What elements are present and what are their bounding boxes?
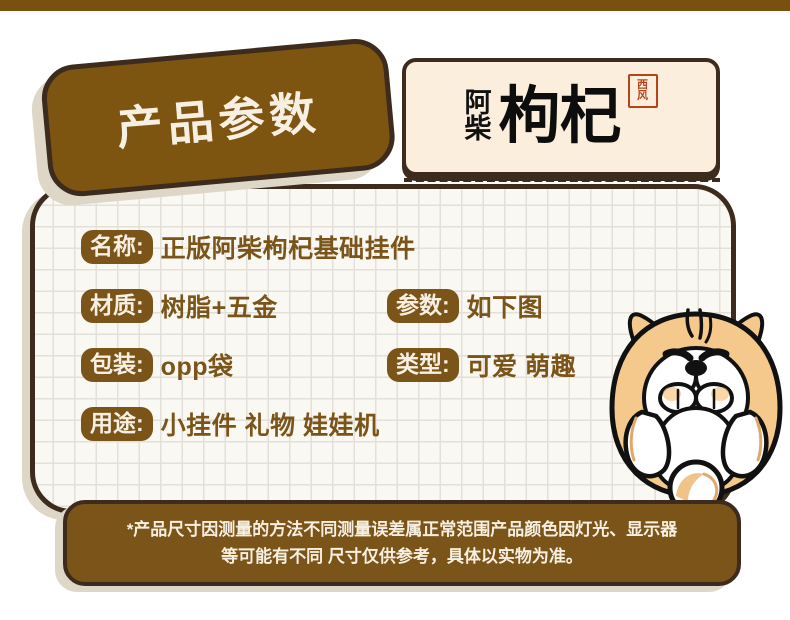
spec-label-name: 名称: <box>81 230 153 264</box>
logo-dashed-underline <box>404 178 720 182</box>
spec-row: 包装: opp袋 类型: 可爱 萌趣 <box>81 347 681 383</box>
spec-list: 名称: 正版阿柴枸杞基础挂件 材质: 树脂+五金 参数: 如下图 包装: opp… <box>81 229 681 465</box>
spec-pair-usage: 用途: 小挂件 礼物 娃娃机 <box>81 406 380 442</box>
spec-pair-material: 材质: 树脂+五金 <box>81 288 278 324</box>
spec-pair-parameter: 参数: 如下图 <box>387 288 543 324</box>
spec-row: 用途: 小挂件 礼物 娃娃机 <box>81 406 681 442</box>
brand-main-name: 枸杞 <box>498 86 620 148</box>
brand-sub-char-bottom: 柴 <box>464 116 491 142</box>
spec-label-usage: 用途: <box>81 407 153 441</box>
shiba-inu-mascot-icon <box>596 296 790 514</box>
spec-row: 名称: 正版阿柴枸杞基础挂件 <box>81 229 681 265</box>
page-title: 产品参数 <box>114 77 323 159</box>
spec-value-parameter: 如下图 <box>467 288 544 324</box>
spec-pair-type: 类型: 可爱 萌趣 <box>387 347 576 383</box>
spec-label-parameter: 参数: <box>387 289 459 323</box>
top-accent-bar <box>0 0 790 11</box>
brand-sub-name: 阿 柴 <box>464 90 491 143</box>
spec-label-type: 类型: <box>387 348 459 382</box>
spec-pair-name: 名称: 正版阿柴枸杞基础挂件 <box>81 229 416 265</box>
spec-value-name: 正版阿柴枸杞基础挂件 <box>161 229 416 265</box>
disclaimer-line-2: 等可能有不同 尺寸仅供参考，具体以实物为准。 <box>221 543 583 570</box>
spec-pair-packaging: 包装: opp袋 <box>81 347 234 383</box>
brand-sub-char-top: 阿 <box>464 90 491 116</box>
spec-label-material: 材质: <box>81 289 153 323</box>
brand-logo-box: 阿 柴 枸杞 西 风 <box>402 58 720 176</box>
seal-char-bottom: 风 <box>637 91 648 102</box>
spec-value-material: 树脂+五金 <box>161 288 278 324</box>
spec-label-packaging: 包装: <box>81 348 153 382</box>
brand-seal-stamp-icon: 西 风 <box>628 74 658 108</box>
disclaimer-line-1: *产品尺寸因测量的方法不同测量误差属正常范围产品颜色因灯光、显示器 <box>127 516 678 543</box>
brand-logo-content: 阿 柴 枸杞 西 风 <box>406 62 716 172</box>
spec-value-packaging: opp袋 <box>161 347 234 383</box>
spec-row: 材质: 树脂+五金 参数: 如下图 <box>81 288 681 324</box>
spec-value-type: 可爱 萌趣 <box>467 347 576 383</box>
spec-value-usage: 小挂件 礼物 娃娃机 <box>161 406 380 442</box>
disclaimer-bar: *产品尺寸因测量的方法不同测量误差属正常范围产品颜色因灯光、显示器 等可能有不同… <box>63 500 741 586</box>
